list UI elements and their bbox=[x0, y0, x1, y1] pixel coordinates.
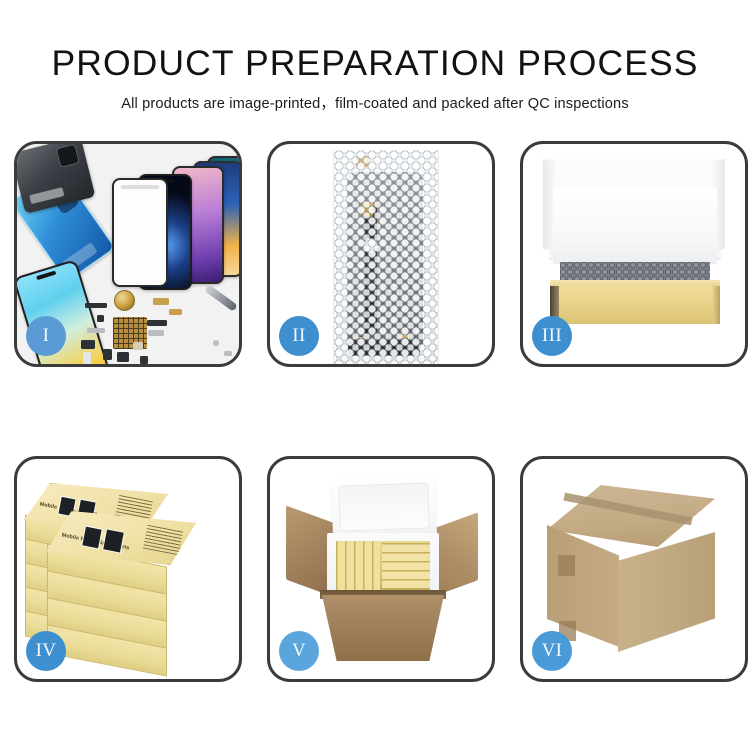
foam-sheet bbox=[553, 188, 717, 264]
small-part bbox=[224, 351, 232, 356]
small-part bbox=[85, 303, 107, 308]
small-part bbox=[81, 340, 95, 349]
page-subtitle: All products are image-printed，film-coat… bbox=[0, 82, 750, 113]
product-preparation-infographic: PRODUCT PREPARATION PROCESS All products… bbox=[0, 0, 750, 750]
kraft-box-front bbox=[550, 286, 720, 324]
header: PRODUCT PREPARATION PROCESS All products… bbox=[0, 0, 750, 113]
step-badge-iv: IV bbox=[26, 631, 66, 671]
small-part bbox=[213, 340, 219, 346]
step-badge-v: V bbox=[279, 631, 319, 671]
carton-left-face bbox=[547, 525, 619, 647]
bubble-texture bbox=[334, 150, 438, 364]
small-part bbox=[140, 356, 148, 364]
step-numeral: II bbox=[292, 325, 305, 347]
page-title: PRODUCT PREPARATION PROCESS bbox=[0, 0, 750, 82]
step-numeral: VI bbox=[542, 640, 563, 662]
small-part bbox=[103, 349, 112, 360]
step-badge-vi: VI bbox=[532, 631, 572, 671]
step-panel-v[interactable]: V bbox=[267, 456, 495, 682]
speaker-module bbox=[114, 290, 135, 311]
small-part bbox=[97, 315, 104, 322]
step-panel-iv[interactable]: Mobile Phone Spare Parts Mobile Phone Sp… bbox=[14, 456, 242, 682]
small-part bbox=[148, 330, 164, 336]
step-numeral: III bbox=[542, 325, 562, 347]
step-numeral: V bbox=[292, 640, 306, 662]
small-part bbox=[117, 352, 129, 362]
carton-tape-upper bbox=[558, 555, 575, 576]
step-badge-i: I bbox=[26, 316, 66, 356]
small-part bbox=[153, 298, 169, 305]
carton-right-face bbox=[618, 532, 715, 652]
step-numeral: I bbox=[43, 325, 50, 347]
small-part bbox=[133, 342, 143, 350]
tempered-glass-protector bbox=[112, 178, 168, 287]
step-panel-i[interactable]: I bbox=[14, 141, 242, 367]
box-label-spec-lines bbox=[143, 525, 183, 555]
small-part bbox=[169, 309, 182, 315]
step-panel-ii[interactable]: II bbox=[267, 141, 495, 367]
step-badge-iii: III bbox=[532, 316, 572, 356]
yellow-boxes-inside bbox=[336, 541, 430, 591]
step-panel-iii[interactable]: III bbox=[520, 141, 748, 367]
bubble-wrap-bag bbox=[333, 150, 439, 364]
step-numeral: IV bbox=[36, 640, 57, 662]
small-part bbox=[87, 328, 105, 333]
carton-front-panel bbox=[322, 595, 444, 661]
small-part bbox=[83, 352, 91, 364]
step-panel-vi[interactable]: VI bbox=[520, 456, 748, 682]
step-badge-ii: II bbox=[279, 316, 319, 356]
process-steps-grid: I II bbox=[14, 141, 736, 682]
foam-box-lid bbox=[331, 475, 437, 541]
small-part bbox=[147, 320, 167, 326]
